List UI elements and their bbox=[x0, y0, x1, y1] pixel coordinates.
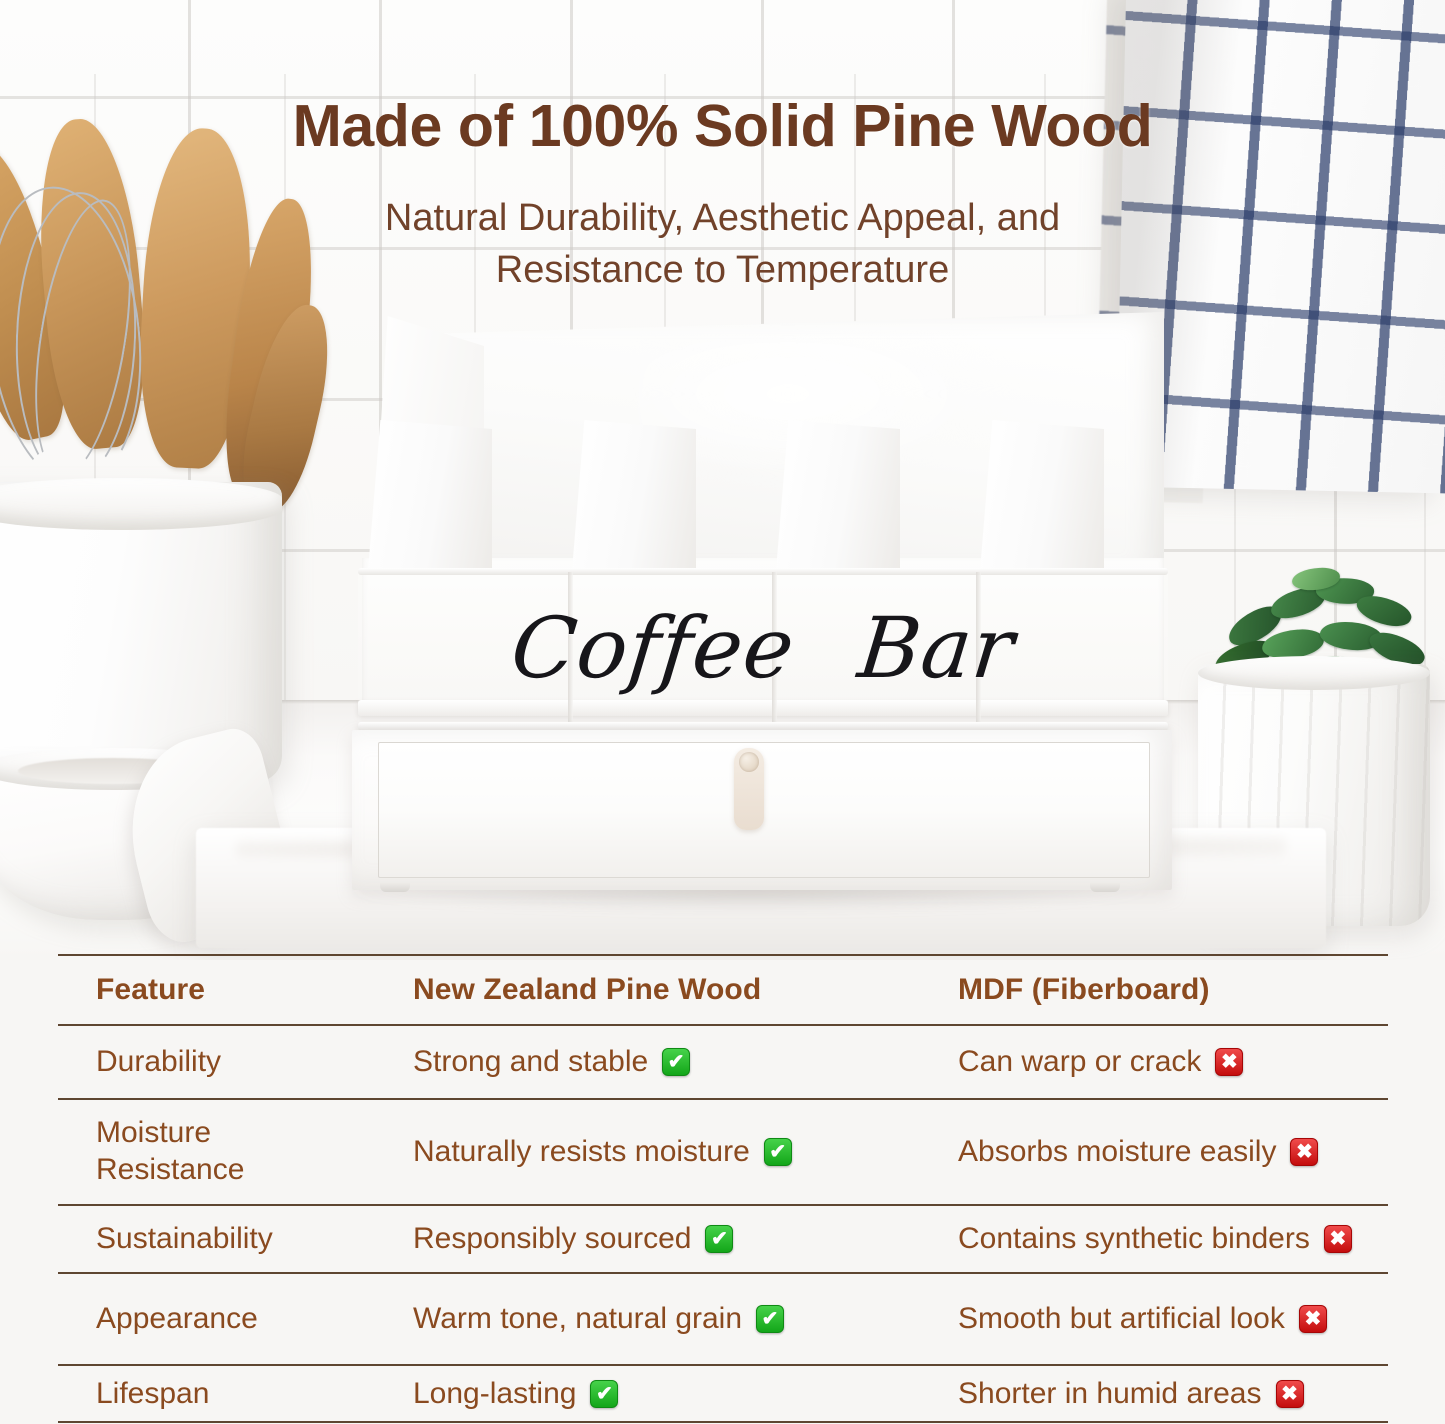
row-feature-label: Sustainability bbox=[96, 1222, 273, 1256]
row-feature-label: Appearance bbox=[96, 1302, 258, 1336]
mdf-value: Smooth but artificial look bbox=[958, 1302, 1285, 1336]
check-icon: ✔ bbox=[662, 1048, 690, 1076]
compartment-divider bbox=[368, 420, 492, 570]
label-band-top-rail bbox=[358, 568, 1168, 575]
wordmark-bar: Bar bbox=[854, 599, 1019, 697]
check-icon: ✔ bbox=[705, 1225, 733, 1253]
cross-icon: ✖ bbox=[1215, 1048, 1243, 1076]
plant-pot-rim bbox=[1198, 656, 1430, 690]
comparison-table: Feature New Zealand Pine Wood MDF (Fiber… bbox=[58, 954, 1388, 1423]
cross-icon: ✖ bbox=[1290, 1138, 1318, 1166]
row-feature-label: Moisture Resistance bbox=[96, 1115, 244, 1188]
table-row: Sustainability Responsibly sourced ✔ Con… bbox=[58, 1204, 1388, 1272]
page-title: Made of 100% Solid Pine Wood bbox=[0, 92, 1445, 160]
row-feature-label: Durability bbox=[96, 1045, 221, 1079]
pine-value: Naturally resists moisture bbox=[413, 1135, 750, 1169]
check-icon: ✔ bbox=[756, 1305, 784, 1333]
check-icon: ✔ bbox=[764, 1138, 792, 1166]
mdf-value: Contains synthetic binders bbox=[958, 1222, 1310, 1256]
drawer-front-panel bbox=[378, 742, 1150, 878]
organizer-foot bbox=[1090, 882, 1120, 892]
row-feature-label: Lifespan bbox=[96, 1377, 209, 1411]
pine-value: Long-lasting bbox=[413, 1377, 576, 1411]
organizer-foot bbox=[380, 882, 410, 892]
utensil-crock-rim bbox=[0, 478, 282, 530]
column-header-mdf: MDF (Fiberboard) bbox=[958, 973, 1210, 1007]
mdf-value: Can warp or crack bbox=[958, 1045, 1201, 1079]
subtitle-line-1: Natural Durability, Aesthetic Appeal, an… bbox=[0, 192, 1445, 244]
row-feature-label-line1: Moisture bbox=[96, 1116, 211, 1149]
table-row: Lifespan Long-lasting ✔ Shorter in humid… bbox=[58, 1364, 1388, 1423]
compartment-divider bbox=[572, 420, 696, 570]
page-subtitle: Natural Durability, Aesthetic Appeal, an… bbox=[0, 192, 1445, 296]
infographic-page: Coffee Bar Made of 100% Solid Pine Wood … bbox=[0, 0, 1445, 1424]
cross-icon: ✖ bbox=[1276, 1380, 1304, 1408]
table-row: Moisture Resistance Naturally resists mo… bbox=[58, 1098, 1388, 1204]
cross-icon: ✖ bbox=[1324, 1225, 1352, 1253]
compartment-divider bbox=[776, 420, 900, 570]
mdf-value: Shorter in humid areas bbox=[958, 1377, 1262, 1411]
coffee-bar-organizer: Coffee Bar bbox=[336, 300, 1164, 900]
wordmark-coffee: Coffee bbox=[507, 599, 800, 697]
pine-value: Warm tone, natural grain bbox=[413, 1302, 742, 1336]
pine-value: Responsibly sourced bbox=[413, 1222, 691, 1256]
column-header-pine: New Zealand Pine Wood bbox=[413, 973, 761, 1007]
compartment-divider bbox=[980, 420, 1104, 570]
coffee-bar-wordmark: Coffee Bar bbox=[358, 588, 1168, 708]
cross-icon: ✖ bbox=[1299, 1305, 1327, 1333]
column-header-feature: Feature bbox=[96, 973, 205, 1007]
check-icon: ✔ bbox=[590, 1380, 618, 1408]
table-header-row: Feature New Zealand Pine Wood MDF (Fiber… bbox=[58, 954, 1388, 1024]
row-feature-label-line2: Resistance bbox=[96, 1153, 244, 1186]
pine-value: Strong and stable bbox=[413, 1045, 648, 1079]
mdf-value: Absorbs moisture easily bbox=[958, 1135, 1276, 1169]
drawer-knob-icon[interactable] bbox=[739, 752, 759, 772]
table-row: Appearance Warm tone, natural grain ✔ Sm… bbox=[58, 1272, 1388, 1364]
subtitle-line-2: Resistance to Temperature bbox=[0, 244, 1445, 296]
table-row: Durability Strong and stable ✔ Can warp … bbox=[58, 1024, 1388, 1098]
